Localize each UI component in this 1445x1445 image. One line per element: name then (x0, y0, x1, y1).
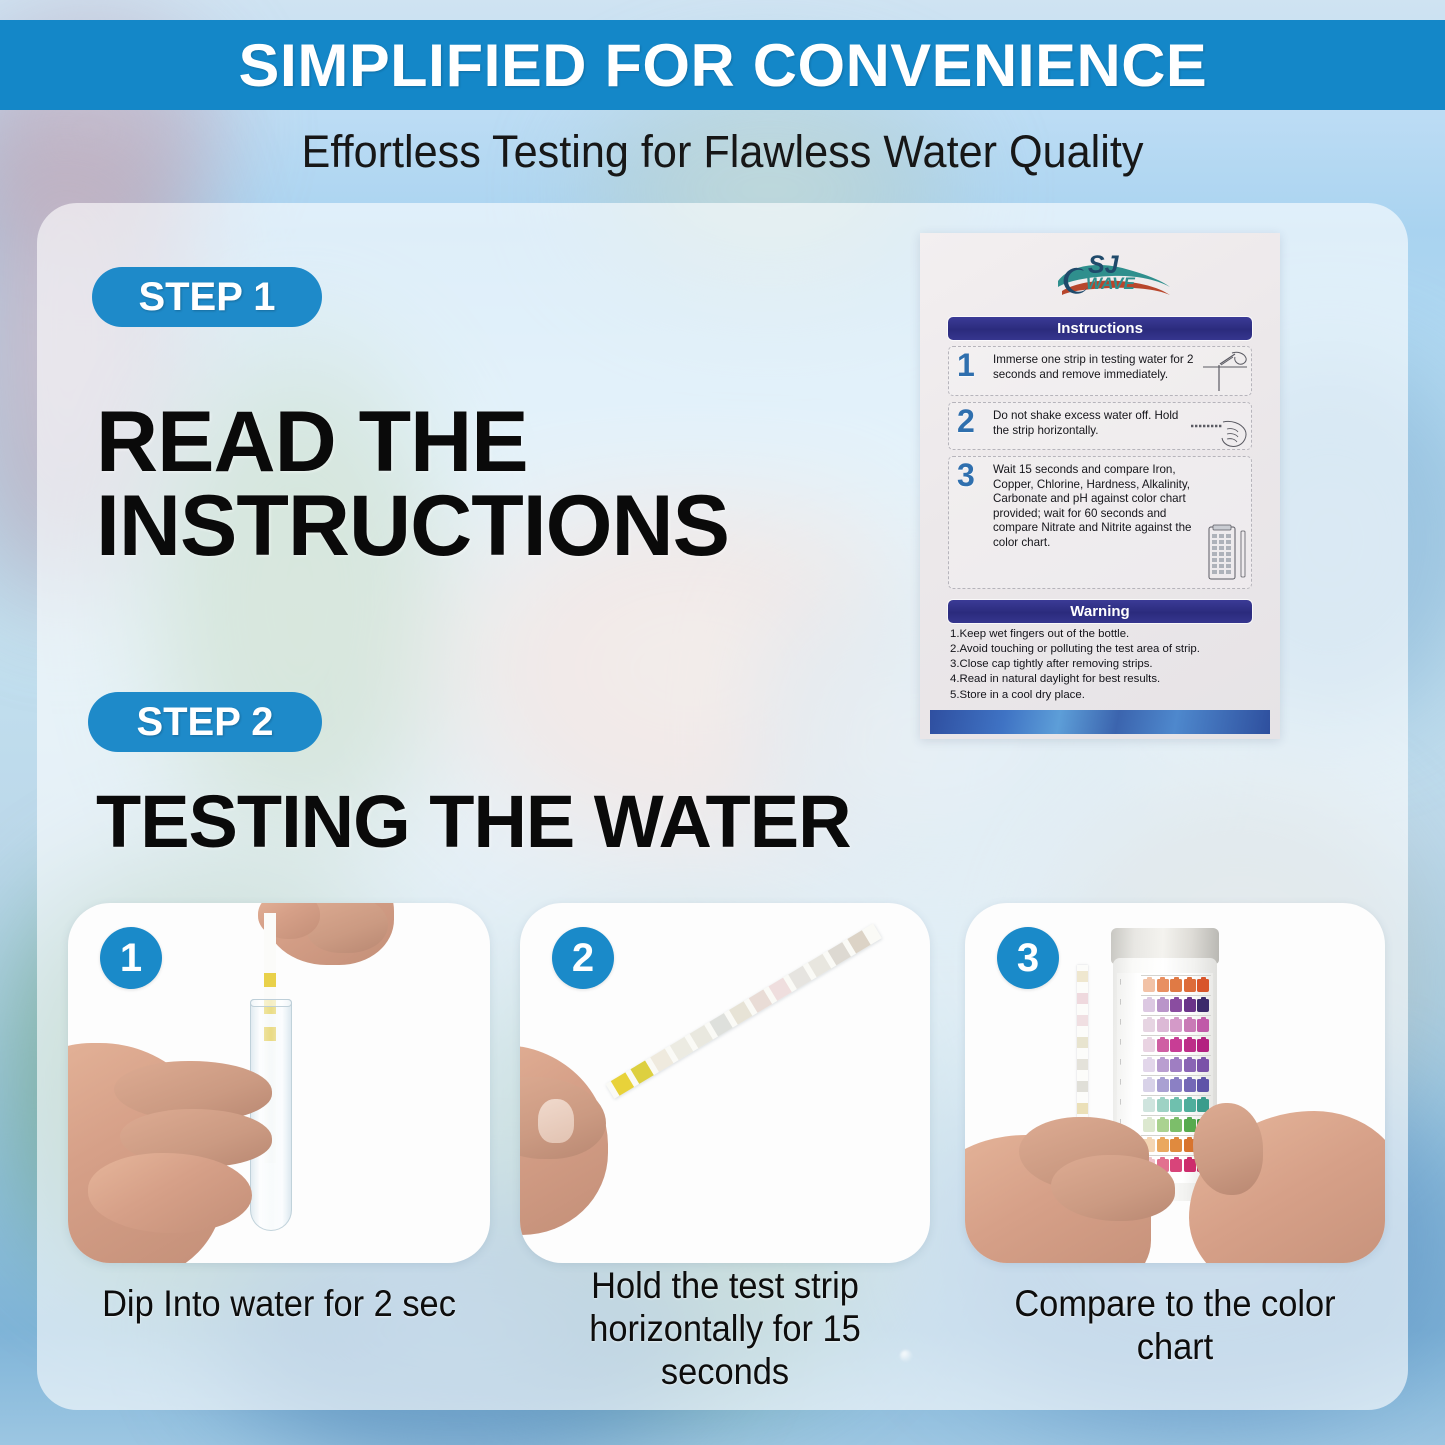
leaflet-bottom-accent-bar (930, 710, 1270, 734)
warning-list: 1.Keep wet fingers out of the bottle. 2.… (950, 627, 1260, 703)
chart-color-chip (1170, 1139, 1182, 1152)
chart-color-chip (1157, 1079, 1169, 1092)
chart-parameter-label: ––– (1118, 1079, 1122, 1085)
strip-pad (630, 1061, 653, 1084)
strip-pad (709, 1013, 732, 1036)
instruction-text-1: Immerse one strip in testing water for 2… (993, 353, 1201, 382)
chart-color-chip (1157, 1059, 1169, 1072)
chart-color-chip (1197, 1079, 1209, 1092)
warning-item: 5.Store in a cool dry place. (950, 688, 1260, 703)
reference-pad (1077, 993, 1088, 1004)
chart-color-chip (1197, 999, 1209, 1012)
thumbnail (538, 1099, 574, 1143)
page-title: SIMPLIFIED FOR CONVENIENCE (238, 31, 1207, 100)
step-1-badge: STEP 1 (92, 267, 322, 327)
chart-row (1141, 977, 1211, 993)
strip-pad (768, 978, 791, 1001)
svg-text:WAVE: WAVE (1086, 274, 1135, 293)
chart-color-chip (1184, 1159, 1196, 1172)
chart-color-chip (1184, 1079, 1196, 1092)
chart-row (1141, 1037, 1211, 1053)
chart-row-divider (1141, 1075, 1211, 1076)
instruction-text-2: Do not shake excess water off. Hold the … (993, 409, 1193, 438)
strip-pad (788, 966, 811, 989)
caption-step-3: Compare to the color chart (980, 1283, 1371, 1369)
step-2-heading: TESTING THE WATER (96, 786, 851, 859)
caption-step-1: Dip Into water for 2 sec (83, 1283, 475, 1326)
chart-parameter-label: ––– (1118, 1099, 1122, 1105)
chart-color-chip (1197, 1019, 1209, 1032)
photo-badge-1: 1 (100, 927, 162, 989)
chart-color-chip (1157, 1039, 1169, 1052)
photo-step-2: 2 (520, 903, 930, 1263)
chart-row (1141, 1057, 1211, 1073)
strip-pad (670, 1037, 693, 1060)
chart-row-divider (1141, 975, 1211, 976)
chart-color-chip (1143, 979, 1155, 992)
chart-parameter-label: ––– (1118, 979, 1122, 985)
instruction-item-2: 2 Do not shake excess water off. Hold th… (948, 402, 1252, 450)
chart-color-chip (1143, 1019, 1155, 1032)
reference-pad (1077, 1103, 1088, 1114)
chart-color-chip (1170, 979, 1182, 992)
test-strip-diagonal (606, 924, 882, 1099)
chart-color-chip (1157, 1139, 1169, 1152)
chart-color-chip (1184, 999, 1196, 1012)
instruction-number-1: 1 (957, 349, 975, 381)
instruction-number-3: 3 (957, 459, 975, 491)
strip-pad (749, 989, 772, 1012)
chart-row-divider (1141, 1015, 1211, 1016)
brand-logo-wrap: SJ WAVE (920, 247, 1280, 301)
chart-color-chip (1157, 999, 1169, 1012)
reference-pad (1077, 1081, 1088, 1092)
instruction-item-3: 3 Wait 15 seconds and compare Iron, Copp… (948, 456, 1252, 589)
chart-color-chip (1143, 1059, 1155, 1072)
step-1-heading-line1: READ THE (96, 400, 729, 484)
chart-color-chip (1170, 1019, 1182, 1032)
chart-color-chip (1197, 1059, 1209, 1072)
step-1-heading: READ THE INSTRUCTIONS (96, 400, 729, 569)
chart-parameter-label: ––– (1118, 999, 1122, 1005)
chart-color-chip (1157, 1119, 1169, 1132)
strip-pad (690, 1025, 713, 1048)
color-chart-icon (1205, 523, 1249, 583)
chart-color-chip (1184, 1119, 1196, 1132)
warning-item: 1.Keep wet fingers out of the bottle. (950, 627, 1260, 642)
hand-holding-strip-icon (1189, 413, 1249, 449)
header-banner: SIMPLIFIED FOR CONVENIENCE (0, 20, 1445, 110)
chart-parameter-label: ––– (1118, 1039, 1122, 1045)
chart-color-chip (1157, 979, 1169, 992)
strip-pad (808, 954, 831, 977)
chart-color-chip (1143, 1039, 1155, 1052)
warning-item: 3.Close cap tightly after removing strip… (950, 657, 1260, 672)
chart-color-chip (1143, 1099, 1155, 1112)
caption-step-2: Hold the test strip horizontally for 15 … (534, 1265, 915, 1394)
reference-pad (1077, 1015, 1088, 1026)
instruction-number-2: 2 (957, 405, 975, 437)
chart-row (1141, 1017, 1211, 1033)
strip-pad (650, 1049, 673, 1072)
chart-color-chip (1170, 1159, 1182, 1172)
page-subtitle: Effortless Testing for Flawless Water Qu… (302, 126, 1144, 178)
chart-color-chip (1170, 999, 1182, 1012)
reference-pad (1077, 971, 1088, 982)
chart-color-chip (1143, 1079, 1155, 1092)
chart-row-divider (1141, 1035, 1211, 1036)
instruction-leaflet: SJ WAVE Instructions 1 Immerse one strip… (920, 233, 1280, 739)
lower-thumb (88, 1153, 252, 1233)
chart-color-chip (1170, 1099, 1182, 1112)
chart-color-chip (1170, 1079, 1182, 1092)
chart-color-chip (1157, 1099, 1169, 1112)
instruction-item-1: 1 Immerse one strip in testing water for… (948, 346, 1252, 396)
chart-color-chip (1170, 1119, 1182, 1132)
warning-section-header: Warning (948, 600, 1252, 623)
chart-color-chip (1157, 1019, 1169, 1032)
chart-row-divider (1141, 1095, 1211, 1096)
step-2-badge: STEP 2 (88, 692, 322, 752)
chart-color-chip (1184, 979, 1196, 992)
strip-dip-icon (1201, 351, 1249, 393)
photo-badge-3: 3 (997, 927, 1059, 989)
chart-color-chip (1170, 1039, 1182, 1052)
chart-color-chip (1197, 979, 1209, 992)
chart-row (1141, 1097, 1211, 1113)
chart-color-chip (1170, 1059, 1182, 1072)
sj-wave-logo-icon: SJ WAVE (1052, 247, 1172, 301)
chart-color-chip (1143, 1119, 1155, 1132)
chart-color-chip (1143, 999, 1155, 1012)
test-tube (250, 999, 292, 1231)
chart-row (1141, 1077, 1211, 1093)
instruction-text-3: Wait 15 seconds and compare Iron, Copper… (993, 463, 1203, 551)
chart-color-chip (1184, 1059, 1196, 1072)
warning-item: 2.Avoid touching or polluting the test a… (950, 642, 1260, 657)
chart-parameter-label: ––– (1118, 1019, 1122, 1025)
test-tube-rim (250, 999, 292, 1007)
chart-color-chip (1184, 1039, 1196, 1052)
reference-pad (1077, 1059, 1088, 1070)
strip-pad (729, 1001, 752, 1024)
warning-item: 4.Read in natural daylight for best resu… (950, 672, 1260, 687)
chart-row-divider (1141, 995, 1211, 996)
instructions-section-header: Instructions (948, 317, 1252, 340)
strip-pad (828, 942, 851, 965)
chart-color-chip (1184, 1099, 1196, 1112)
strip-pad (847, 930, 870, 953)
photo-step-1: 1 (68, 903, 490, 1263)
reference-pad (1077, 1037, 1088, 1048)
chart-color-chip (1184, 1019, 1196, 1032)
chart-color-chip (1197, 1039, 1209, 1052)
photo-badge-2: 2 (552, 927, 614, 989)
strip-pad (264, 973, 276, 987)
chart-row (1141, 997, 1211, 1013)
chart-parameter-label: ––– (1118, 1059, 1122, 1065)
subtitle-wrap: Effortless Testing for Flawless Water Qu… (0, 112, 1445, 192)
chart-row-divider (1141, 1055, 1211, 1056)
photo-step-3: 3 –––––––––––––––––––––––––––––– (965, 903, 1385, 1263)
step-1-heading-line2: INSTRUCTIONS (96, 484, 729, 568)
strip-pad (611, 1072, 634, 1095)
